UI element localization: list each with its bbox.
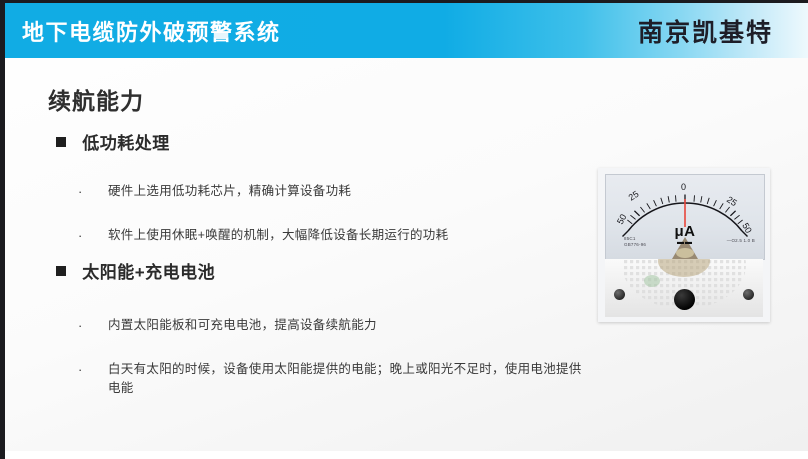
list-item-label: 软件上使用休眠+唤醒的机制，大幅降低设备长期运行的功耗: [108, 226, 678, 245]
meter-screw-right: [743, 289, 754, 300]
list-item: · 软件上使用休眠+唤醒的机制，大幅降低设备长期运行的功耗: [78, 226, 678, 245]
meter-body-lower: [605, 259, 763, 317]
section-title: 续航能力: [48, 82, 144, 116]
slide-bottom-border: [0, 451, 808, 459]
analog-microammeter-image: 50 25 0 25 50 μA ▬▬ 85C1 GB: [598, 168, 770, 322]
square-bullet-icon: [56, 137, 66, 147]
bullet-heading-solar-battery: 太阳能+充电电池: [56, 258, 215, 283]
dot-bullet-icon: ·: [78, 226, 83, 245]
meter-screw-left: [614, 289, 625, 300]
meter-dial-face: 50 25 0 25 50 μA ▬▬ 85C1 GB: [605, 174, 765, 260]
meter-unit-text: μA: [674, 223, 695, 240]
meter-class-mark: —O2.5 1.0 B: [727, 238, 755, 244]
svg-text:25: 25: [627, 189, 641, 203]
page-title: 地下电缆防外破预警系统: [22, 15, 281, 47]
slide-content: 续航能力 低功耗处理 · 硬件上选用低功耗芯片，精确计算设备功耗 · 软件上使用…: [0, 58, 808, 451]
square-bullet-icon: [56, 266, 66, 276]
svg-text:0: 0: [681, 182, 686, 192]
meter-standard-code: GB776-96: [624, 242, 646, 248]
slide-left-border: [0, 0, 5, 459]
bullet-heading-low-power: 低功耗处理: [56, 129, 170, 154]
list-item-label: 白天有太阳的时候，设备使用太阳能提供的电能；晚上或阳光不足时，使用电池提供电能: [108, 360, 588, 398]
company-logo-text: 南京凯基特: [638, 13, 773, 49]
bullet-heading-label: 低功耗处理: [82, 134, 170, 153]
list-item-label: 硬件上选用低功耗芯片，精确计算设备功耗: [108, 182, 548, 201]
list-item-label: 内置太阳能板和可充电电池，提高设备续航能力: [108, 316, 548, 335]
slide-header-band: 地下电缆防外破预警系统 南京凯基特: [0, 3, 808, 58]
dot-bullet-icon: ·: [78, 182, 83, 201]
dot-bullet-icon: ·: [78, 360, 83, 379]
slide-canvas: 地下电缆防外破预警系统 南京凯基特 续航能力 低功耗处理 · 硬件上选用低功耗芯…: [0, 0, 808, 459]
bullet-heading-label: 太阳能+充电电池: [82, 263, 215, 282]
svg-text:25: 25: [725, 194, 739, 208]
meter-zero-adjust-knob: [674, 289, 695, 310]
dot-bullet-icon: ·: [78, 316, 83, 335]
list-item: · 白天有太阳的时候，设备使用太阳能提供的电能；晚上或阳光不足时，使用电池提供电…: [78, 360, 588, 398]
list-item: · 硬件上选用低功耗芯片，精确计算设备功耗: [78, 182, 548, 201]
meter-model-text: 85C1 GB776-96: [624, 236, 646, 247]
list-item: · 内置太阳能板和可充电电池，提高设备续航能力: [78, 316, 548, 335]
